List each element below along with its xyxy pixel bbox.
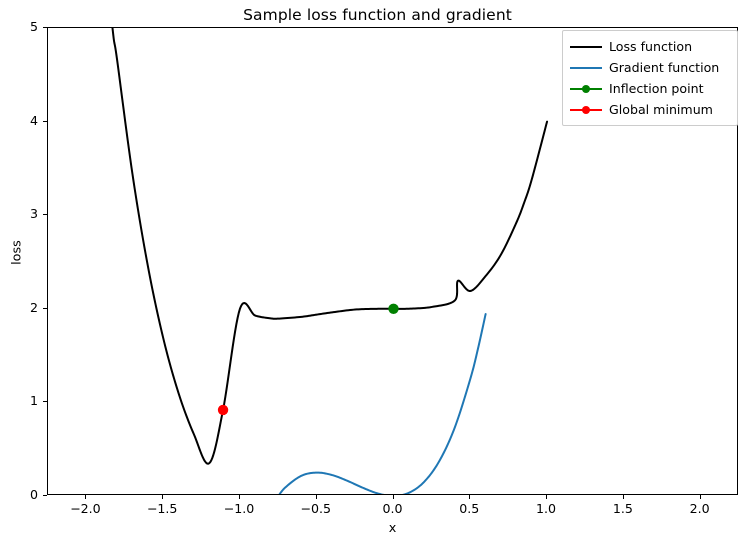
x-tick-label: 1.5 [593,501,653,516]
x-tick-mark [469,495,470,499]
chart-title: Sample loss function and gradient [0,6,755,24]
y-tick-label: 1 [0,393,38,408]
x-tick-label: −2.0 [55,501,115,516]
x-tick-mark [85,495,86,499]
y-tick-label: 0 [0,487,38,502]
loss-function-curve [48,28,547,464]
x-tick-label: −1.0 [209,501,269,516]
x-tick-mark [623,495,624,499]
y-tick-mark [43,495,47,496]
legend-line-icon [570,67,602,69]
x-tick-label: 0.0 [363,501,423,516]
global-minimum-marker[interactable] [218,405,228,415]
legend-label: Loss function [609,39,692,54]
legend-swatch [570,39,602,55]
legend-line-icon [570,46,602,48]
x-tick-mark [162,495,163,499]
y-axis-label: loss [10,223,25,283]
x-tick-label: −0.5 [286,501,346,516]
legend-swatch [570,102,602,118]
legend-marker-icon [582,106,590,114]
x-tick-label: −1.5 [132,501,192,516]
x-tick-mark [546,495,547,499]
legend-swatch [570,60,602,76]
x-tick-label: 0.5 [439,501,499,516]
legend-item[interactable]: Inflection point [570,78,729,99]
x-tick-label: 2.0 [670,501,730,516]
highlight-points-group [218,304,399,415]
y-tick-label: 4 [0,113,38,128]
figure-canvas: Sample loss function and gradient loss x… [0,0,755,547]
legend-label: Gradient function [609,60,719,75]
curves-group [48,28,547,495]
y-tick-label: 2 [0,300,38,315]
gradient-function-curve [194,314,486,495]
x-tick-mark [700,495,701,499]
inflection-point-marker[interactable] [388,304,398,314]
legend-box[interactable]: Loss functionGradient functionInflection… [562,30,738,126]
legend-label: Global minimum [609,102,713,117]
y-tick-label: 3 [0,206,38,221]
legend-marker-icon [582,85,590,93]
x-axis-label: x [47,521,738,536]
legend-item[interactable]: Global minimum [570,99,729,120]
y-tick-label: 5 [0,19,38,34]
legend-item[interactable]: Loss function [570,36,729,57]
x-tick-mark [316,495,317,499]
x-tick-label: 1.0 [516,501,576,516]
legend-label: Inflection point [609,81,704,96]
x-tick-mark [239,495,240,499]
legend-swatch [570,81,602,97]
x-tick-mark [393,495,394,499]
legend-item[interactable]: Gradient function [570,57,729,78]
